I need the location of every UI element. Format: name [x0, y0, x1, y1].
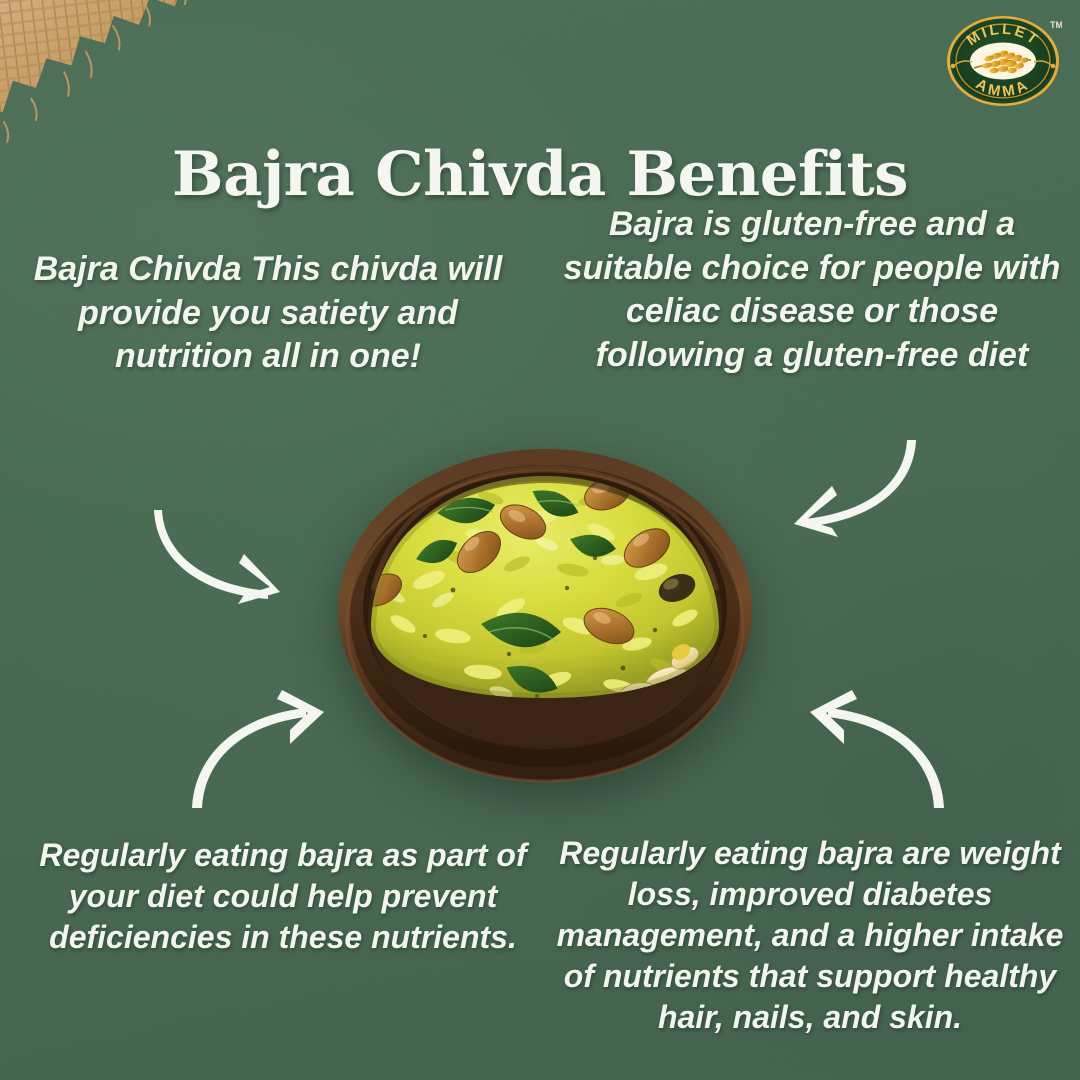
benefit-text-top-right: Bajra is gluten-free and a suitable choi…	[560, 203, 1064, 377]
page-title: Bajra Chivda Benefits	[0, 143, 1080, 207]
trademark-icon: TM	[1050, 20, 1062, 30]
curved-arrow-bottom-right	[766, 686, 958, 814]
burlap-fabric-decoration	[0, 0, 306, 159]
infographic-poster: MILLET AMMA TM Bajra Chivda Benefits Baj…	[0, 0, 1080, 1080]
wooden-bowl-with-bajra-chivda	[333, 440, 757, 785]
curved-arrow-left	[152, 492, 338, 607]
chivda-bowl-photo	[333, 440, 757, 785]
curved-arrow-right	[758, 428, 928, 546]
benefit-text-top-left: Bajra Chivda This chivda will provide yo…	[18, 248, 518, 379]
benefit-text-bottom-right: Regularly eating bajra are weight loss, …	[552, 833, 1068, 1038]
millet-amma-logo[interactable]: MILLET AMMA TM	[944, 12, 1062, 110]
benefit-text-bottom-left: Regularly eating bajra as part of your d…	[38, 835, 528, 958]
